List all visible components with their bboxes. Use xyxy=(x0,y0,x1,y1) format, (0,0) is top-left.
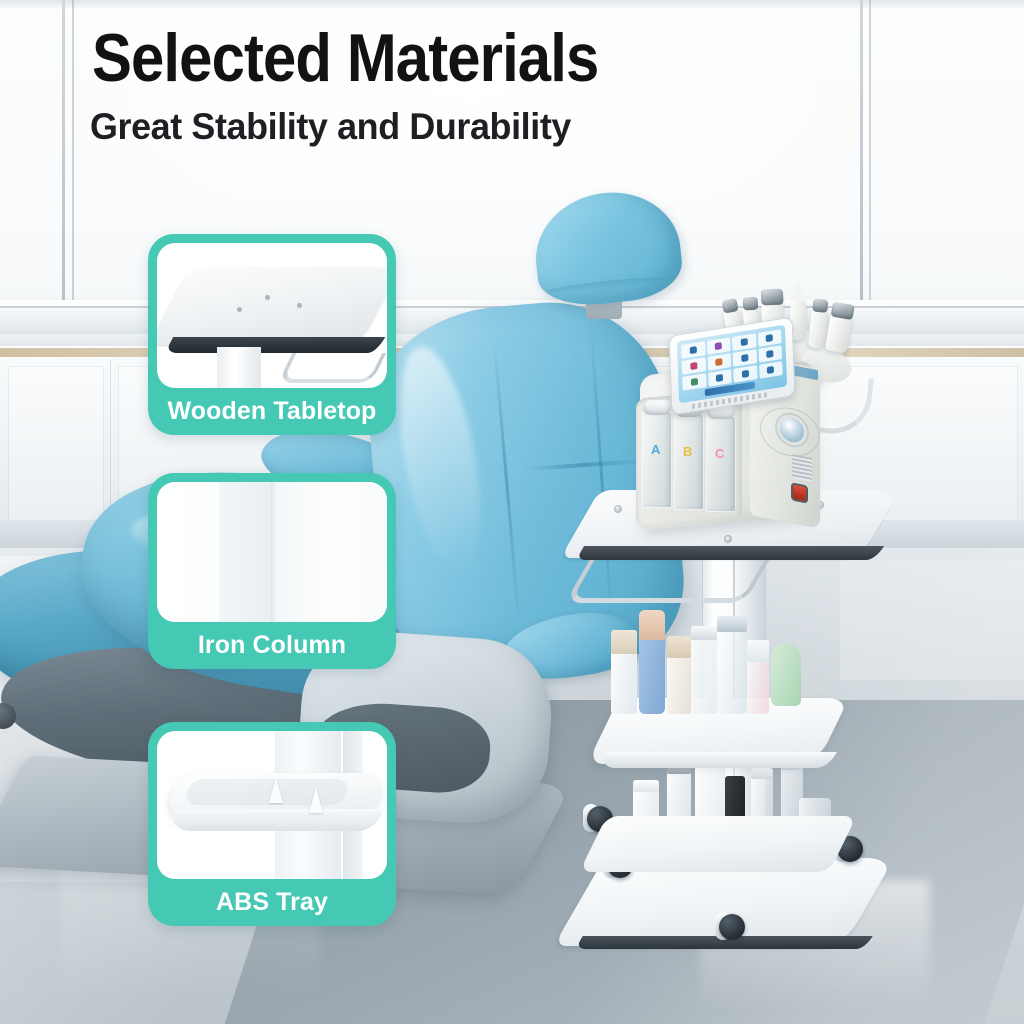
feature-card-wooden-tabletop[interactable]: Wooden Tabletop xyxy=(148,234,396,435)
cosmetic-bottle xyxy=(691,626,717,714)
feature-card-abs-tray[interactable]: ABS Tray xyxy=(148,722,396,926)
cosmetic-bottle xyxy=(667,636,691,714)
feature-card-iron-column[interactable]: Iron Column xyxy=(148,473,396,669)
feature-card-photo xyxy=(157,731,387,879)
cosmetic-jar xyxy=(717,616,747,714)
screen-tile[interactable] xyxy=(681,341,705,359)
solution-bottle xyxy=(642,412,672,508)
abs-tray-inner-surface xyxy=(184,779,350,805)
screen-tile[interactable] xyxy=(758,345,782,363)
screen-tile[interactable] xyxy=(732,333,756,351)
tabletop-handle-bar xyxy=(278,353,387,383)
column-face xyxy=(277,482,327,622)
cosmetic-bottle xyxy=(611,630,637,714)
tabletop-screw xyxy=(237,307,242,312)
cosmetic-bottle xyxy=(771,644,801,706)
window-mullion xyxy=(860,0,863,300)
feature-card-photo xyxy=(157,482,387,622)
page-title: Selected Materials xyxy=(92,26,598,91)
tabletop-screw xyxy=(297,303,302,308)
window-mullion xyxy=(869,0,871,300)
screen-tile[interactable] xyxy=(759,361,783,379)
tabletop-surface xyxy=(157,267,387,345)
screen-tile[interactable] xyxy=(682,357,706,375)
abs-tray-lip xyxy=(168,809,383,831)
screen-tile[interactable] xyxy=(707,337,731,355)
solution-bottle-label-c: C xyxy=(715,446,724,461)
screen-tile[interactable] xyxy=(708,369,732,387)
column-face xyxy=(157,482,219,622)
solution-bottle xyxy=(674,414,704,510)
solution-bottle-label-b: B xyxy=(683,444,692,459)
feature-card-label: Iron Column xyxy=(148,622,396,669)
screen-tile[interactable] xyxy=(758,329,782,347)
tabletop-screw xyxy=(615,506,621,512)
column-face xyxy=(219,482,271,622)
hydrodermabrasion-machine: A B C xyxy=(632,290,847,535)
product-marketing-image: A B C Selected Materials G xyxy=(0,0,1024,1024)
tabletop-column xyxy=(217,347,261,388)
solution-bottle-label-a: A xyxy=(651,442,660,457)
abs-tray-peg xyxy=(269,777,283,803)
trolley-tabletop-edge xyxy=(576,546,884,560)
cosmetic-bottle xyxy=(747,640,769,714)
screen-tile[interactable] xyxy=(733,365,757,383)
trolley-caster xyxy=(715,910,749,944)
machine-vent xyxy=(792,454,812,482)
screen-tile[interactable] xyxy=(707,353,731,371)
tabletop-screw xyxy=(725,536,731,542)
cosmetic-bottle xyxy=(639,610,665,714)
feature-card-label: Wooden Tabletop xyxy=(148,388,396,435)
screen-tile[interactable] xyxy=(682,373,706,391)
column-face xyxy=(327,482,387,622)
tabletop-screw xyxy=(265,295,270,300)
solution-bottle-cap[interactable] xyxy=(643,400,671,415)
power-indicator[interactable] xyxy=(793,485,806,502)
solution-bottle xyxy=(706,416,736,512)
tabletop-edge-band xyxy=(165,337,386,353)
feature-card-photo xyxy=(157,243,387,388)
trolley-middle-tray-lip xyxy=(599,752,837,768)
trolley-lower-shelf xyxy=(579,816,856,872)
feature-card-label: ABS Tray xyxy=(148,879,396,926)
screen-tile-grid xyxy=(681,329,783,391)
rolling-trolley xyxy=(575,480,905,970)
page-subtitle: Great Stability and Durability xyxy=(90,106,571,148)
abs-tray-peg xyxy=(309,787,323,813)
screen-tile[interactable] xyxy=(733,349,757,367)
